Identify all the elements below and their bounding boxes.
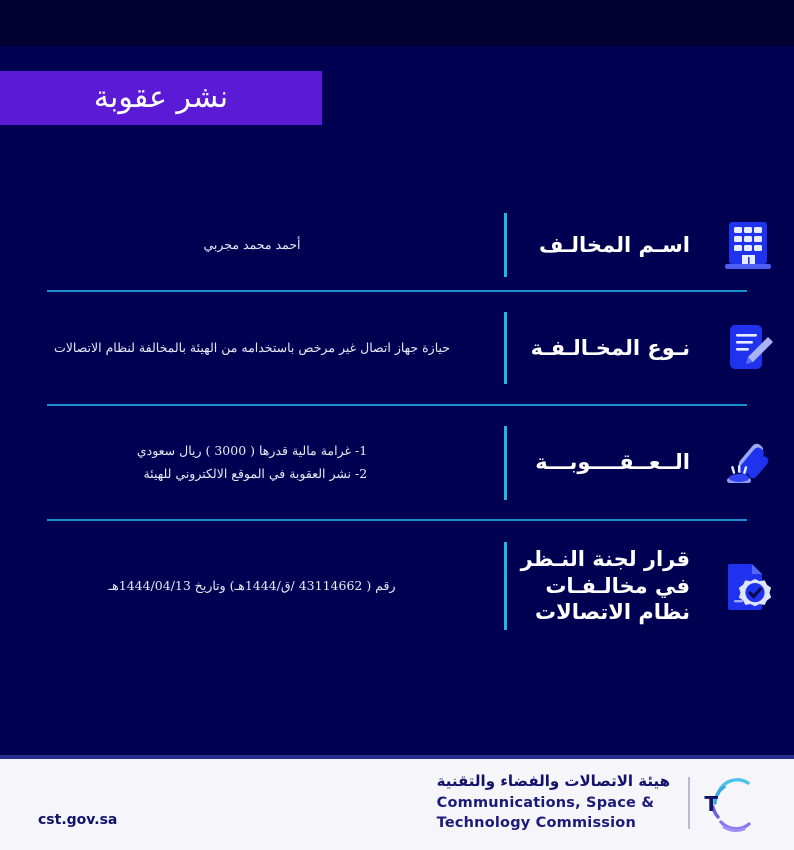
page-title: نشر عقوبة xyxy=(94,83,228,113)
decision-document-icon xyxy=(719,557,777,615)
building-icon-cell xyxy=(694,200,794,290)
row-violator-name: اسـم المخالـف أحمد محمد مجربي xyxy=(0,200,794,290)
building-icon xyxy=(719,216,777,274)
label-penalty: الــعــقــــوبـــة xyxy=(504,449,690,476)
header-banner: نشر عقوبة xyxy=(0,71,322,125)
footer-name-english-line1: Communications, Space & xyxy=(437,793,670,814)
gavel-icon-cell xyxy=(694,406,794,519)
value-violation-type-cell: حيازة جهاز اتصال غير مرخص باستخدامه من ا… xyxy=(0,292,504,404)
value-violator-name: أحمد محمد مجربي xyxy=(203,234,300,255)
value-committee-decision: رقم ( 43114662 /ق/1444هـ) وتاريخ 1444/04… xyxy=(109,575,396,596)
row-violation-type: نـوع المخـالـفـة حيازة جهاز اتصال غير مر… xyxy=(0,292,794,404)
document-pen-icon-cell xyxy=(694,292,794,404)
label-violation-type-cell: نـوع المخـالـفـة xyxy=(504,292,694,404)
label-violator-name: اسـم المخالـف xyxy=(504,232,690,259)
footer-name-english-line2: Technology Commission xyxy=(437,813,670,834)
cst-logo: CST هيئة الاتصالات والفضاء والتقنية Comm… xyxy=(437,771,766,834)
footer-accent-bar xyxy=(0,755,794,759)
label-penalty-cell: الــعــقــــوبـــة xyxy=(504,406,694,519)
footer-website-url[interactable]: cst.gov.sa xyxy=(38,812,117,828)
footer-name-arabic: هيئة الاتصالات والفضاء والتقنية xyxy=(437,771,670,793)
penalty-item: 1- غرامة مالية قدرها ( 3000 ) ريال سعودي xyxy=(137,440,367,463)
label-committee-decision: قرار لجنة النـظر في مخالـفـات نظام الاتص… xyxy=(504,546,690,627)
gavel-icon xyxy=(719,434,777,492)
details-rows: اسـم المخالـف أحمد محمد مجربي xyxy=(0,200,794,651)
penalty-item: 2- نشر العقوبة في الموقع الالكتروني للهي… xyxy=(137,463,367,486)
row-committee-decision: قرار لجنة النـظر في مخالـفـات نظام الاتص… xyxy=(0,521,794,651)
decision-document-icon-cell xyxy=(694,521,794,651)
label-committee-decision-cell: قرار لجنة النـظر في مخالـفـات نظام الاتص… xyxy=(504,521,694,651)
cst-logo-mark: CST xyxy=(704,772,766,834)
top-strip xyxy=(0,0,794,46)
footer-org-name: هيئة الاتصالات والفضاء والتقنية Communic… xyxy=(437,771,670,834)
footer: CST هيئة الاتصالات والفضاء والتقنية Comm… xyxy=(0,755,794,850)
value-penalty-cell: 1- غرامة مالية قدرها ( 3000 ) ريال سعودي… xyxy=(0,406,504,519)
value-committee-decision-cell: رقم ( 43114662 /ق/1444هـ) وتاريخ 1444/04… xyxy=(0,521,504,651)
label-violation-type: نـوع المخـالـفـة xyxy=(504,335,690,362)
logo-divider xyxy=(688,777,690,829)
value-violation-type: حيازة جهاز اتصال غير مرخص باستخدامه من ا… xyxy=(54,337,450,358)
label-violator-name-cell: اسـم المخالـف xyxy=(504,200,694,290)
row-penalty: الــعــقــــوبـــة 1- غرامة مالية قدرها … xyxy=(0,406,794,519)
value-violator-name-cell: أحمد محمد مجربي xyxy=(0,200,504,290)
svg-text:CST: CST xyxy=(704,792,718,816)
value-penalty-list: 1- غرامة مالية قدرها ( 3000 ) ريال سعودي… xyxy=(137,440,367,485)
document-pen-icon xyxy=(719,319,777,377)
penalty-publication-card: نشر عقوبة xyxy=(0,0,794,850)
